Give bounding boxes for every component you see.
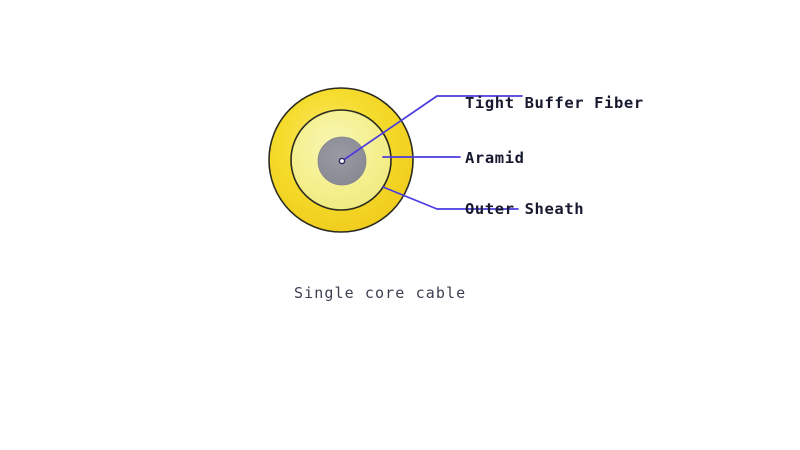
callout-label-aramid: Aramid: [465, 149, 525, 167]
callout-label-tight-buffer-fiber: Tight Buffer Fiber: [465, 94, 644, 112]
leader-anchor-tight-buffer-fiber: [339, 158, 344, 163]
cable-diagram-svg: Tight Buffer Fiber Aramid Outer Sheath S…: [0, 0, 800, 450]
figure-caption: Single core cable: [294, 284, 466, 302]
cable-cross-section-diagram: Tight Buffer Fiber Aramid Outer Sheath S…: [0, 0, 800, 450]
callout-label-outer-sheath: Outer Sheath: [465, 200, 584, 218]
